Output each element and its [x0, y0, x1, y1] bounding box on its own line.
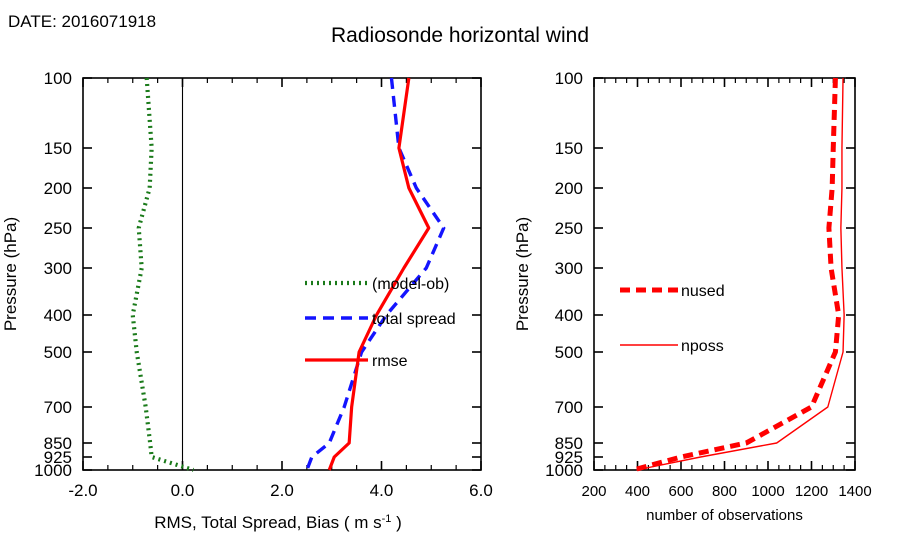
right-x-tick-label: 600: [668, 483, 693, 500]
right-y-tick-label: 200: [555, 179, 583, 198]
radiosonde-figure: DATE: 2016071918Radiosonde horizontal wi…: [0, 0, 900, 560]
figure-canvas: DATE: 2016071918Radiosonde horizontal wi…: [0, 0, 900, 560]
legend-label-nused: nused: [681, 283, 725, 300]
right-x-axis-label: number of observations: [646, 507, 803, 524]
left-y-tick-label: 250: [44, 219, 72, 238]
plot-frame: [594, 78, 855, 470]
right-x-tick-label: 1000: [751, 483, 784, 500]
plot-frame: [83, 78, 481, 470]
right-y-tick-label: 500: [555, 343, 583, 362]
left-y-tick-label: 300: [44, 259, 72, 278]
left-y-tick-label: 700: [44, 398, 72, 417]
right-series-nposs: [636, 78, 844, 470]
left-series-total-spread: [307, 78, 444, 470]
right-y-tick-label: 700: [555, 398, 583, 417]
right-x-tick-label: 400: [625, 483, 650, 500]
left-y-tick-label: 200: [44, 179, 72, 198]
legend-label-nposs: nposs: [681, 338, 724, 355]
right-y-tick-label: 100: [555, 69, 583, 88]
legend-label--model-ob-: (model-ob): [372, 276, 449, 293]
date-label: DATE: 2016071918: [8, 12, 156, 31]
right-y-tick-label: 400: [555, 306, 583, 325]
right-x-tick-label: 800: [712, 483, 737, 500]
left-x-tick-label: 4.0: [370, 481, 394, 500]
left-x-tick-label: 0.0: [171, 481, 195, 500]
left-x-tick-label: 2.0: [270, 481, 294, 500]
right-y-axis-label: Pressure (hPa): [513, 217, 532, 331]
left-y-tick-label: 150: [44, 139, 72, 158]
left-series-rmse: [329, 78, 429, 470]
right-y-tick-label: 150: [555, 139, 583, 158]
left-y-tick-label: 500: [44, 343, 72, 362]
left-x-tick-label: 6.0: [469, 481, 493, 500]
right-x-tick-label: 1400: [838, 483, 871, 500]
legend-label-total-spread: total spread: [372, 311, 456, 328]
right-y-tick-label: 300: [555, 259, 583, 278]
left-y-tick-label: 1000: [34, 461, 72, 480]
legend-label-rmse: rmse: [372, 353, 408, 370]
page-title: Radiosonde horizontal wind: [331, 24, 589, 47]
left-y-tick-label: 100: [44, 69, 72, 88]
right-series-nused: [633, 78, 839, 470]
left-series--model-ob-: [133, 78, 194, 470]
left-x-axis-label: RMS, Total Spread, Bias ( m s-1 ): [154, 513, 402, 532]
left-y-tick-label: 400: [44, 306, 72, 325]
right-y-tick-label: 1000: [545, 461, 583, 480]
left-x-tick-label: -2.0: [68, 481, 97, 500]
right-x-tick-label: 200: [581, 483, 606, 500]
left-y-axis-label: Pressure (hPa): [1, 217, 20, 331]
right-x-tick-label: 1200: [795, 483, 828, 500]
right-y-tick-label: 250: [555, 219, 583, 238]
